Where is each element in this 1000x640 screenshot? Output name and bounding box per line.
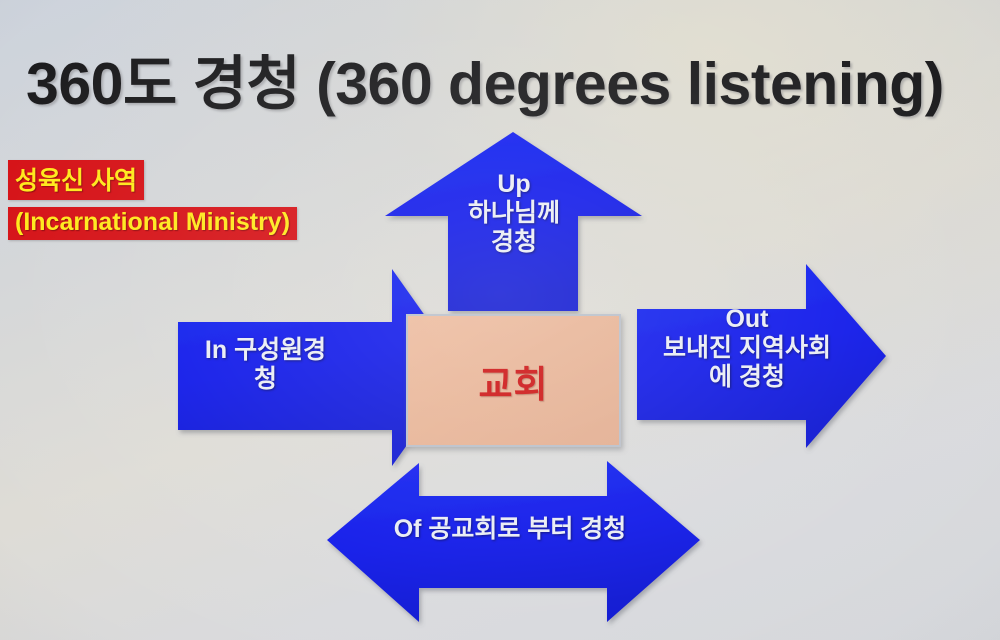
presentation-slide: 360도 경청 (360 degrees listening) 성육신 사역 (…: [0, 0, 1000, 640]
church-label: 교회: [478, 354, 548, 408]
arrow-up-shape: [385, 132, 642, 311]
church-center-box: 교회: [406, 314, 621, 447]
arrow-out-shape: [637, 264, 886, 448]
arrow-of-shape: [327, 461, 700, 622]
